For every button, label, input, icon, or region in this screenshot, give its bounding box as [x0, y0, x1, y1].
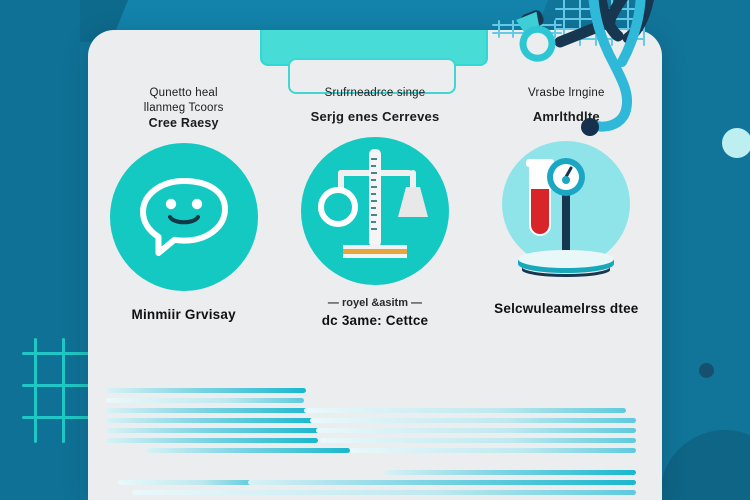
column-2-heading: Srufrneadrce singe Serjg enes Cerreves [311, 86, 440, 125]
text-line [106, 408, 318, 413]
body-text-placeholder [88, 380, 662, 500]
column-2-caption-main: dc 3ame: Cettce [322, 313, 429, 328]
column-2-caption-top: — royel &asitm — [322, 297, 429, 309]
text-line [106, 438, 318, 443]
text-line [106, 398, 304, 403]
column-1-icon-wrap [110, 143, 258, 291]
text-line [304, 408, 626, 413]
column-1-heading-line2: llanmeg Tcoors [144, 101, 224, 116]
column-1-heading-line1: Qunetto heal [144, 86, 224, 101]
column-1-caption-main: Minmiir Grvisay [132, 307, 236, 322]
column-1-caption: Minmiir Grvisay [132, 303, 236, 322]
column-1-heading-line3: Cree Raesy [144, 115, 224, 131]
column-3-caption: Selcwuleamelrss dtee [494, 297, 638, 316]
text-line [118, 480, 254, 485]
column-1: Qunetto heal llanmeg Tcoors Cree Raesy M… [88, 86, 279, 386]
text-line [146, 448, 350, 453]
column-2-heading-line1: Srufrneadrce singe [311, 86, 440, 101]
stethoscope-tip-dot [581, 118, 599, 136]
column-3-caption-main: Selcwuleamelrss dtee [494, 301, 638, 316]
text-line [106, 428, 320, 433]
column-2-icon-wrap [301, 137, 449, 285]
speech-bubble-smiley-icon [110, 143, 258, 291]
text-line [106, 388, 306, 393]
dot-bottom-right [699, 363, 714, 378]
text-line [106, 418, 316, 423]
column-2: Srufrneadrce singe Serjg enes Cerreves [279, 86, 470, 386]
text-line [384, 470, 636, 475]
column-2-caption: — royel &asitm — dc 3ame: Cettce [322, 297, 429, 328]
grid-pattern-left [22, 338, 92, 443]
text-line [132, 490, 636, 495]
stethoscope-illustration [490, 0, 750, 194]
column-1-heading: Qunetto heal llanmeg Tcoors Cree Raesy [144, 86, 224, 131]
text-line [316, 428, 636, 433]
text-line [350, 448, 636, 453]
column-2-heading-line3: Serjg enes Cerreves [311, 109, 440, 126]
balance-scale-icon [301, 137, 449, 285]
text-line [310, 418, 636, 423]
text-line [320, 438, 636, 443]
text-line [248, 480, 636, 485]
